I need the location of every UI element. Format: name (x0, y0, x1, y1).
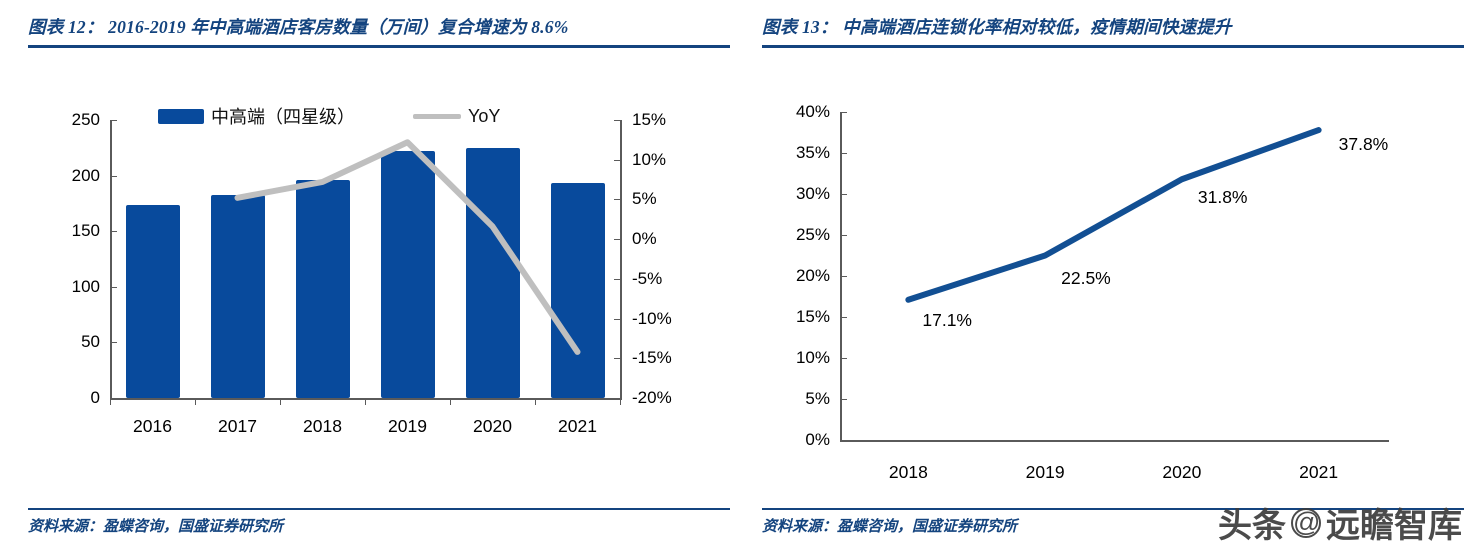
yoy-line (238, 142, 578, 352)
chart-13-data-label-2018: 17.1% (922, 310, 972, 331)
watermark: 头条 @ 远瞻智库 (1218, 498, 1462, 547)
watermark-left-text: 头条 (1218, 498, 1286, 547)
figure-13-source: 资料来源：盈蝶咨询，国盛证券研究所 (762, 515, 1017, 536)
chain-rate-line (908, 130, 1318, 300)
watermark-right-text: 远瞻智库 (1326, 498, 1462, 547)
figure-panel-13: 图表 13： 中高端酒店连锁化率相对较低，疫情期间快速提升 0%5%10%15%… (762, 0, 1464, 551)
chart-13-plot: 0%5%10%15%20%25%30%35%40%201820192020202… (762, 0, 1464, 470)
chart-13-data-label-2019: 22.5% (1061, 268, 1111, 289)
chart-13-data-label-2021: 37.8% (1339, 134, 1389, 155)
figure-12-source: 资料来源：盈蝶咨询，国盛证券研究所 (28, 515, 283, 536)
watermark-at-icon: @ (1291, 508, 1321, 538)
chart-13-data-label-2020: 31.8% (1198, 187, 1248, 208)
report-page: 图表 12： 2016-2019 年中高端酒店客房数量（万间）复合增速为 8.6… (0, 0, 1468, 551)
figure-panel-12: 图表 12： 2016-2019 年中高端酒店客房数量（万间）复合增速为 8.6… (28, 0, 730, 551)
chart-line-layer (28, 0, 730, 470)
chart-line-layer (762, 0, 1464, 470)
figure-12-source-rule (28, 508, 730, 510)
chart-12-plot: 050100150200250-20%-15%-10%-5%0%5%10%15%… (28, 0, 730, 470)
